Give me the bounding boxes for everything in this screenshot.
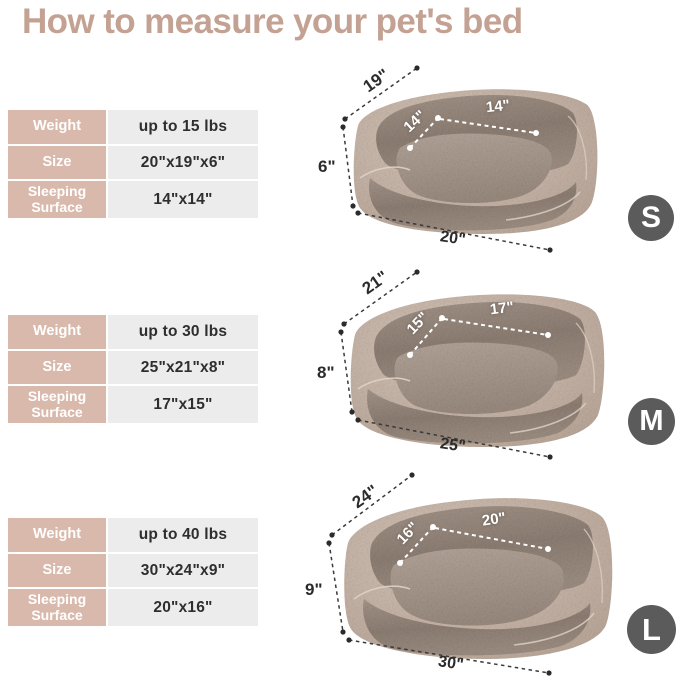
row-value-size: 30"x24"x9" (108, 554, 258, 587)
infographic-page: How to measure your pet's bed Weight up … (0, 0, 679, 686)
row-label-size: Size (8, 351, 106, 384)
dimension-width: 30" (437, 653, 465, 675)
row-value-size: 25"x21"x8" (108, 351, 258, 384)
row-value-sleeping-surface: 14"x14" (108, 181, 258, 218)
table-row: Weight up to 30 lbs (8, 315, 258, 349)
spec-table-large: Weight up to 40 lbs Size 30"x24"x9" Slee… (8, 518, 258, 628)
table-row: Sleeping Surface 20"x16" (8, 589, 258, 626)
row-label-size: Size (8, 146, 106, 179)
table-row: Size 25"x21"x8" (8, 351, 258, 384)
table-row: Size 30"x24"x9" (8, 554, 258, 587)
row-value-size: 20"x19"x6" (108, 146, 258, 179)
size-badge-medium: M (628, 398, 675, 445)
row-label-weight: Weight (8, 110, 106, 144)
table-row: Weight up to 40 lbs (8, 518, 258, 552)
pet-bed-drawing-small (300, 60, 679, 260)
bed-illustration-small: 19" 6" 20" 14" 14" (300, 60, 679, 260)
row-label-sleeping-surface: Sleeping Surface (8, 589, 106, 626)
row-label-sleeping-surface: Sleeping Surface (8, 181, 106, 218)
row-label-sleeping-surface: Sleeping Surface (8, 386, 106, 423)
row-label-size: Size (8, 554, 106, 587)
dimension-height: 6" (318, 157, 336, 177)
dimension-height: 9" (305, 580, 323, 600)
row-label-weight: Weight (8, 315, 106, 349)
row-value-weight: up to 40 lbs (108, 518, 258, 552)
dimension-width: 20" (439, 228, 467, 250)
dimension-height: 8" (317, 363, 335, 383)
row-label-weight: Weight (8, 518, 106, 552)
size-badge-large: L (627, 605, 676, 654)
table-row: Sleeping Surface 17"x15" (8, 386, 258, 423)
row-value-sleeping-surface: 17"x15" (108, 386, 258, 423)
table-row: Weight up to 15 lbs (8, 110, 258, 144)
bed-illustration-medium: 21" 8" 25" 15" 17" (300, 265, 679, 475)
table-row: Sleeping Surface 14"x14" (8, 181, 258, 218)
table-row: Size 20"x19"x6" (8, 146, 258, 179)
spec-table-small: Weight up to 15 lbs Size 20"x19"x6" Slee… (8, 110, 258, 220)
row-value-weight: up to 30 lbs (108, 315, 258, 349)
pet-bed-drawing-medium (300, 265, 679, 475)
inner-dimension-width: 14" (485, 97, 510, 116)
page-title: How to measure your pet's bed (22, 2, 672, 42)
bed-illustration-large: 24" 9" 30" 16" 20" (300, 465, 679, 680)
row-value-weight: up to 15 lbs (108, 110, 258, 144)
size-badge-small: S (628, 195, 674, 241)
dimension-width: 25" (439, 435, 467, 457)
inner-dimension-width: 17" (489, 299, 515, 319)
spec-table-medium: Weight up to 30 lbs Size 25"x21"x8" Slee… (8, 315, 258, 425)
row-value-sleeping-surface: 20"x16" (108, 589, 258, 626)
